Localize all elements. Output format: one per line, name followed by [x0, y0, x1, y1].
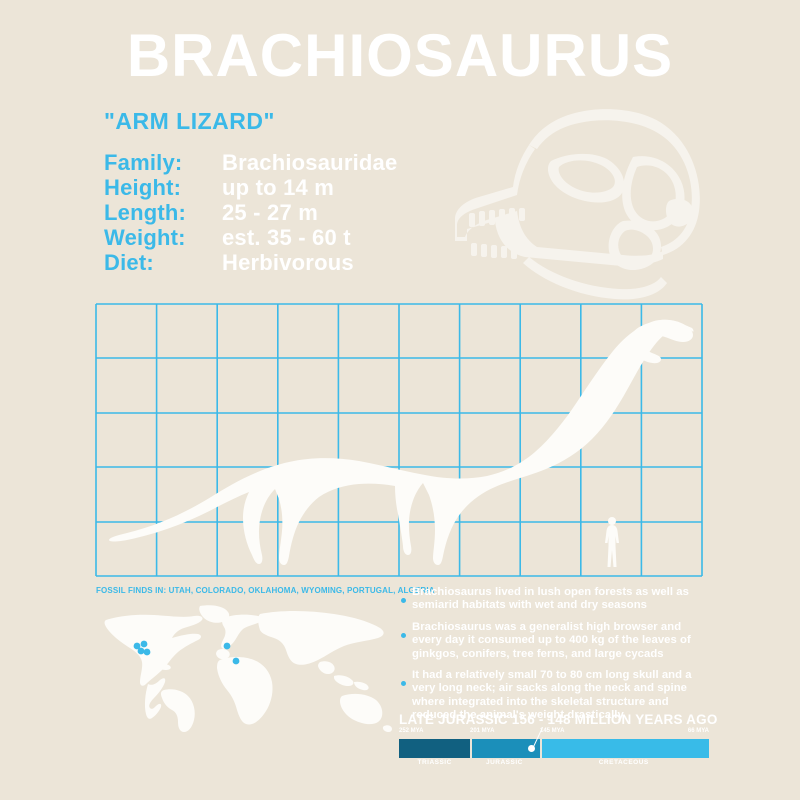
infographic-poster: BRACHIOSAURUS "ARM LIZARD"	[0, 0, 800, 800]
fossil-finds-caption: FOSSIL FINDS IN: UTAH, COLORADO, OKLAHOM…	[96, 586, 435, 595]
subtitle: "ARM LIZARD"	[104, 108, 275, 135]
fact-value: up to 14 m	[222, 175, 334, 201]
scale-diagram	[95, 303, 703, 578]
fact-label: Length:	[104, 200, 222, 226]
timeline-tick-label: 201 MYA	[470, 728, 494, 734]
bullet-item: Brachiosaurus lived in lush open forests…	[401, 586, 709, 613]
timeline-separator	[470, 736, 472, 761]
fact-row: Height: up to 14 m	[104, 175, 397, 200]
fact-label: Family:	[104, 150, 222, 176]
skull-illustration	[455, 105, 710, 300]
fact-row: Family: Brachiosauridae	[104, 150, 397, 175]
fact-label: Diet:	[104, 250, 222, 276]
fact-row: Length: 25 - 27 m	[104, 200, 397, 225]
bullet-text: Brachiosaurus lived in lush open forests…	[412, 586, 689, 611]
fact-label: Weight:	[104, 225, 222, 251]
timeline-period-name: CRETACEOUS	[599, 759, 649, 766]
fact-row: Weight: est. 35 - 60 t	[104, 225, 397, 250]
timeline-tick-label: 252 MYA	[399, 728, 423, 734]
human-silhouette	[604, 516, 620, 568]
description-bullets: Brachiosaurus lived in lush open forests…	[401, 586, 709, 731]
timeline-period-name: JURASSIC	[486, 759, 523, 766]
geologic-timeline: LATE JURASSIC 156 - 148 MILLION YEARS AG…	[399, 712, 709, 771]
fact-value: est. 35 - 60 t	[222, 225, 351, 251]
fact-row: Diet: Herbivorous	[104, 250, 397, 275]
timeline-tick-label: 145 MYA	[540, 728, 564, 734]
bullet-dot-icon	[401, 681, 406, 686]
timeline-separator	[540, 736, 542, 761]
timeline-segment-triassic[interactable]	[399, 739, 470, 758]
fact-value: Brachiosauridae	[222, 150, 397, 176]
bullet-dot-icon	[401, 633, 406, 638]
timeline-period-name: TRIASSIC	[417, 759, 451, 766]
timeline-tick-label: 66 MYA	[688, 728, 709, 734]
timeline-ticks: 252 MYA 201 MYA 145 MYA 66 MYA	[399, 728, 709, 739]
bullet-dot-icon	[401, 598, 406, 603]
world-map	[96, 604, 396, 734]
timeline-period-marker	[528, 745, 535, 752]
facts-list: Family: Brachiosauridae Height: up to 14…	[104, 150, 397, 275]
fact-value: Herbivorous	[222, 250, 354, 276]
timeline-title: LATE JURASSIC 156 - 148 MILLION YEARS AG…	[399, 712, 709, 727]
bullet-item: Brachiosaurus was a generalist high brow…	[401, 621, 709, 661]
page-title: BRACHIOSAURUS	[0, 26, 800, 86]
fact-value: 25 - 27 m	[222, 200, 318, 226]
fact-label: Height:	[104, 175, 222, 201]
bullet-text: Brachiosaurus was a generalist high brow…	[412, 621, 691, 660]
timeline-segment-cretaceous[interactable]	[540, 739, 709, 758]
timeline-period-names: TRIASSIC JURASSIC CRETACEOUS	[399, 759, 709, 771]
timeline-bar[interactable]	[399, 739, 709, 758]
world-map-svg	[96, 604, 396, 734]
